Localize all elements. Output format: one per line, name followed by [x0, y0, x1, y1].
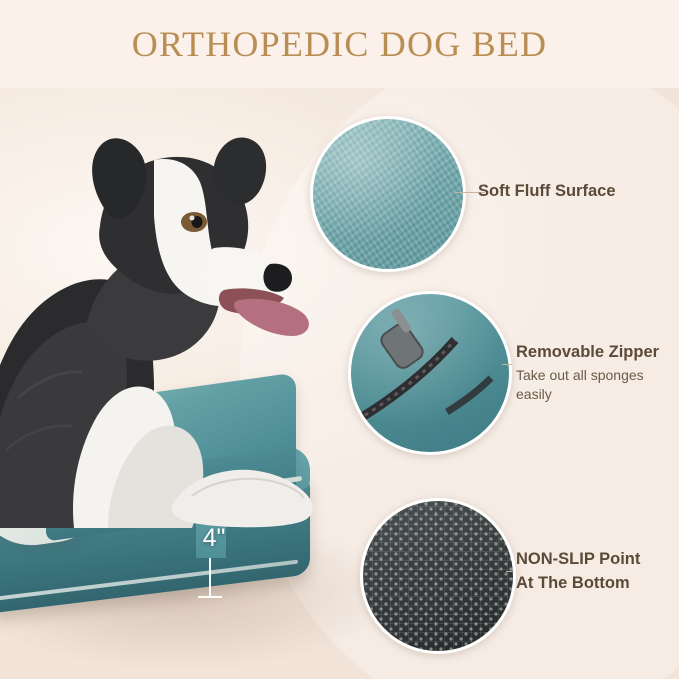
callout-sub-zipper-line1: Take out all sponges [516, 366, 659, 385]
zipper-icon [351, 294, 509, 452]
callout-text-nonslip: NON-SLIP Point At The Bottom [516, 550, 640, 593]
callout-sub-zipper-line2: easily [516, 385, 659, 404]
callout-title-nonslip: NON-SLIP Point [516, 550, 640, 569]
title-bar: ORTHOPEDIC DOG BED [0, 0, 679, 88]
product-photo-area: 4" [0, 88, 679, 679]
bed-height-label: 4" [192, 524, 236, 553]
leader-line-nonslip [506, 571, 514, 572]
non-slip-dots-icon [363, 501, 513, 651]
zipper-swatch [348, 291, 512, 455]
non-slip-swatch [360, 498, 516, 654]
leader-line-zipper [502, 364, 512, 365]
callout-title-fluff: Soft Fluff Surface [478, 182, 616, 201]
callout-sub-nonslip: At The Bottom [516, 574, 640, 593]
dog-photo-illustration [0, 98, 338, 528]
page-title: ORTHOPEDIC DOG BED [132, 23, 547, 65]
fluff-surface-swatch [310, 116, 466, 272]
product-infographic: ORTHOPEDIC DOG BED 4" [0, 0, 679, 679]
callout-text-zipper: Removable Zipper Take out all sponges ea… [516, 343, 659, 404]
callout-title-zipper: Removable Zipper [516, 343, 659, 362]
callout-text-fluff: Soft Fluff Surface [478, 182, 616, 201]
measure-cap-bottom [198, 596, 222, 598]
